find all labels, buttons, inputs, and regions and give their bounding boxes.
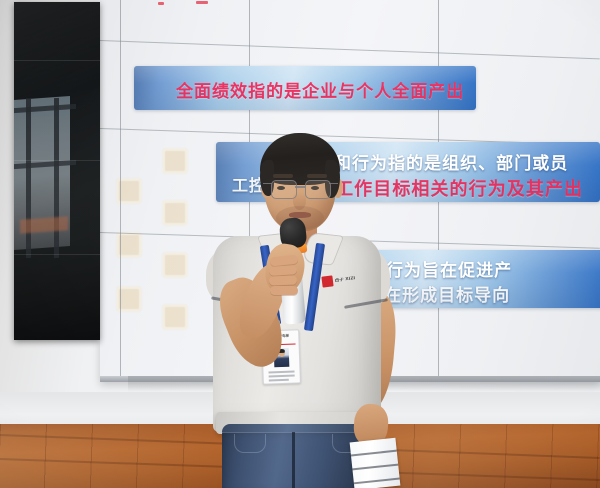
panel-seam-vertical [120, 0, 121, 382]
wall-watermark [162, 200, 188, 226]
paper-edge [351, 450, 397, 457]
panel-seam-horizontal [100, 40, 600, 59]
papers-held [350, 438, 401, 488]
slide-2-line-2: 与工作目标相关的行为及其产出 [316, 175, 583, 201]
wall-watermark [162, 304, 188, 330]
glasses-temple-right [329, 183, 338, 184]
eyebrow-right [307, 174, 327, 178]
dark-display-panel [14, 2, 100, 340]
finger [270, 286, 298, 295]
finger [269, 276, 297, 286]
eyebrow-left [273, 174, 293, 178]
slide-2-line-1: 和行为指的是组织、部门或员 [334, 149, 568, 174]
glasses-lens-right [305, 180, 331, 199]
jeans-waistband [222, 424, 368, 432]
finger [269, 265, 298, 276]
jeans-fly [292, 432, 295, 488]
panel-glare [14, 2, 100, 340]
wall-watermark [162, 148, 188, 174]
chest-logo-mark [321, 275, 333, 287]
slide-banner-1: 全面绩效指的是企业与个人全面产出 [134, 66, 476, 110]
stray-red-mark [196, 1, 208, 4]
screenshot-scene: 全面绩效指的是企业与个人全面产出 工控 和行为指的是组织、部门或员 与工作目标相… [0, 0, 600, 488]
glasses-temple-left [263, 183, 272, 184]
badge-field-line [269, 379, 289, 381]
slide-1-line-1: 全面绩效指的是企业与个人全面产出 [176, 77, 464, 102]
glasses-bridge [295, 186, 305, 188]
slide-3-line-1: 行为旨在促进产 [386, 256, 512, 281]
paper-edge [352, 464, 398, 471]
badge-field-line [268, 371, 294, 374]
wall-watermark [162, 252, 188, 278]
jeans-pocket-left [234, 434, 266, 453]
stray-red-mark [158, 2, 164, 5]
badge-field-line [269, 375, 295, 378]
paper-edge [354, 478, 400, 485]
